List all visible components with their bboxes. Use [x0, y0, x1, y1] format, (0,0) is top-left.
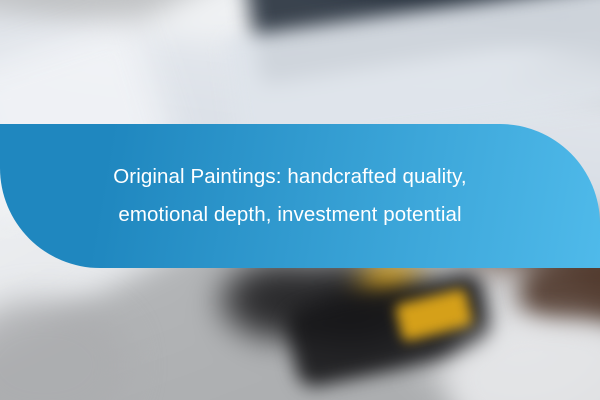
screenshot-root: Original Paintings: handcrafted quality,…	[0, 0, 600, 400]
headline-banner: Original Paintings: handcrafted quality,…	[0, 124, 600, 268]
background-shadow-right	[520, 258, 600, 328]
headline-line-1: Original Paintings: handcrafted quality,	[113, 158, 466, 196]
headline-line-2: emotional depth, investment potential	[118, 196, 461, 234]
